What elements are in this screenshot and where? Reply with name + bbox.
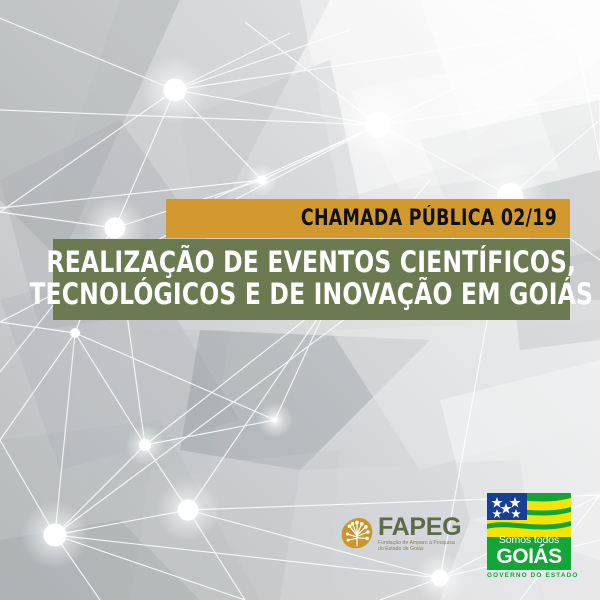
call-kicker-text: CHAMADA PÚBLICA 02/19 — [301, 208, 557, 230]
fapeg-tagline-line-1: Fundação de Amparo à Pesquisa — [378, 540, 461, 547]
fapeg-logo: FAPEG Fundação de Amparo à Pesquisa do E… — [340, 515, 465, 557]
poster-canvas: CHAMADA PÚBLICA 02/19 REALIZAÇÃO DE EVEN… — [0, 0, 600, 600]
poster-banner: CHAMADA PÚBLICA 02/19 REALIZAÇÃO DE EVEN… — [0, 199, 600, 329]
goias-logo-box: Somos todos GOIÁS — [487, 493, 571, 570]
fapeg-tagline-line-2: do Estado de Goiás — [378, 546, 461, 553]
fapeg-wordmark: FAPEG — [378, 515, 461, 540]
page-title-line-1: REALIZAÇÃO DE EVENTOS CIENTÍFICOS, — [47, 247, 577, 278]
fapeg-brain-icon — [340, 516, 374, 550]
fapeg-wordmark-group: FAPEG Fundação de Amparo à Pesquisa do E… — [378, 515, 461, 553]
goias-slogan-group: Somos todos GOIÁS — [487, 535, 571, 567]
goias-flag-canton-icon — [487, 493, 571, 537]
logo-row: FAPEG Fundação de Amparo à Pesquisa do E… — [0, 488, 600, 583]
goias-footer-text: GOVERNO DO ESTADO — [487, 572, 571, 579]
goias-government-logo: Somos todos GOIÁS GOVERNO DO ESTADO — [487, 493, 571, 581]
goias-slogan-main: GOIÁS — [487, 546, 571, 567]
poster-title-band: REALIZAÇÃO DE EVENTOS CIENTÍFICOS, TECNO… — [53, 239, 570, 320]
call-kicker-band: CHAMADA PÚBLICA 02/19 — [166, 199, 570, 238]
page-title-line-2: TECNOLÓGICOS E DE INOVAÇÃO EM GOIÁS — [30, 279, 594, 310]
